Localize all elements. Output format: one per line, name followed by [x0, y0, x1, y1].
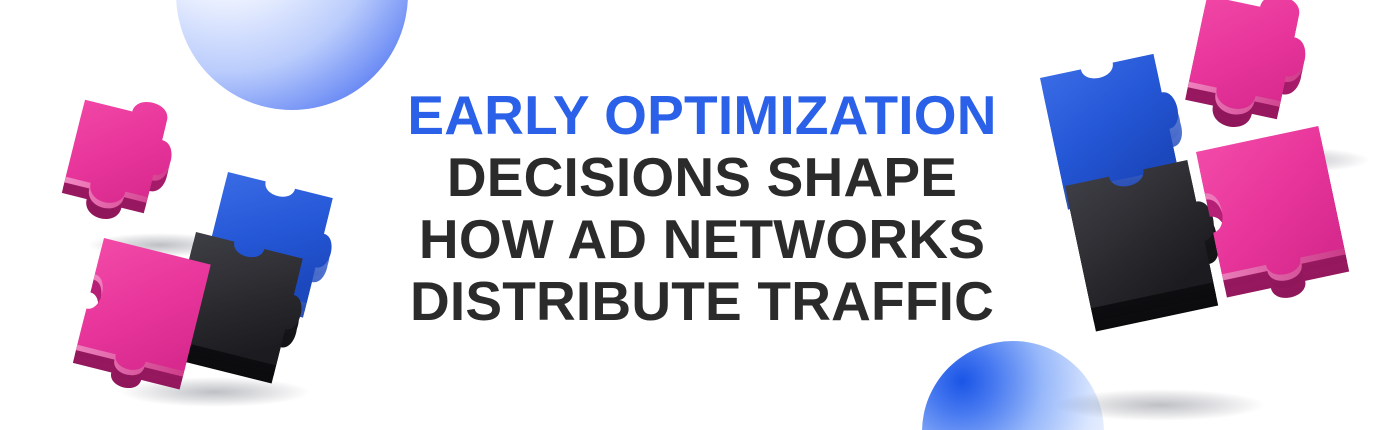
left-blue-piece	[198, 172, 344, 320]
headline-line-1: EARLY OPTIMIZATION	[352, 84, 1052, 146]
right-black-piece	[1065, 157, 1231, 331]
right-floating-piece-shadow	[1210, 147, 1370, 173]
left-pink-piece	[70, 238, 211, 401]
headline-line-3: HOW AD NETWORKS	[352, 208, 1052, 270]
left-cluster-shadow	[120, 377, 310, 407]
headline-block: EARLY OPTIMIZATION DECISIONS SHAPE HOW A…	[352, 84, 1052, 332]
right-floating-pink-piece	[1182, 0, 1317, 139]
banner-root: EARLY OPTIMIZATION DECISIONS SHAPE HOW A…	[0, 0, 1400, 430]
left-puzzle-cluster	[58, 87, 344, 407]
headline-line-2: DECISIONS SHAPE	[352, 146, 1052, 208]
left-black-piece	[165, 232, 314, 386]
right-pink-piece	[1196, 126, 1352, 310]
right-cluster-shadow	[1055, 389, 1265, 421]
left-floating-piece-shadow	[88, 233, 232, 257]
headline-line-4: DISTRIBUTE TRAFFIC	[352, 270, 1052, 332]
bottom-right-gradient-circle	[922, 341, 1104, 430]
right-puzzle-cluster	[1040, 0, 1370, 421]
left-floating-pink-piece	[58, 87, 183, 232]
right-blue-piece	[1040, 51, 1193, 209]
